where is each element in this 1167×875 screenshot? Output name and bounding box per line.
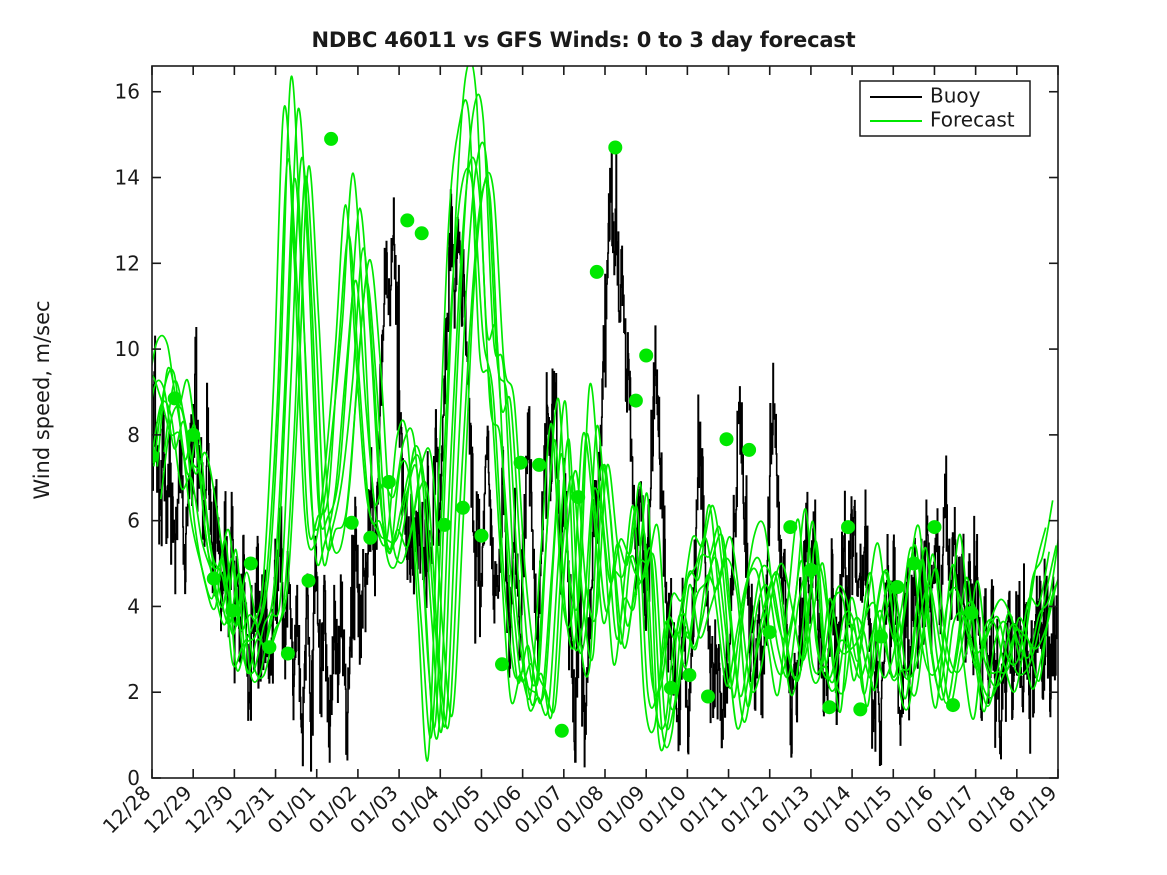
forecast-series	[140, 61, 1071, 761]
forecast-marker	[456, 501, 469, 514]
forecast-marker	[842, 521, 855, 534]
forecast-marker	[401, 214, 414, 227]
forecast-marker	[281, 647, 294, 660]
forecast-marker	[965, 606, 978, 619]
chart-legend: BuoyForecast	[860, 81, 1030, 136]
y-tick-label: 2	[127, 680, 140, 704]
forecast-marker	[514, 456, 527, 469]
forecast-marker	[302, 574, 315, 587]
forecast-marker	[702, 690, 715, 703]
y-tick-label: 8	[127, 423, 140, 447]
forecast-marker	[907, 557, 920, 570]
forecast-marker	[533, 458, 546, 471]
forecast-marker	[720, 433, 733, 446]
y-tick-label: 6	[127, 509, 140, 533]
y-tick-label: 4	[127, 594, 140, 618]
forecast-marker	[804, 564, 817, 577]
forecast-marker	[891, 581, 904, 594]
forecast-marker	[263, 641, 276, 654]
forecast-marker	[928, 521, 941, 534]
forecast-marker	[763, 626, 776, 639]
forecast-marker	[207, 572, 220, 585]
forecast-marker	[475, 529, 488, 542]
y-tick-label: 16	[115, 80, 140, 104]
forecast-marker	[629, 394, 642, 407]
forecast-marker	[640, 349, 653, 362]
forecast-marker	[854, 703, 867, 716]
forecast-marker	[244, 557, 257, 570]
chart-figure: NDBC 46011 vs GFS Winds: 0 to 3 day fore…	[0, 0, 1167, 875]
forecast-marker	[683, 669, 696, 682]
plot-canvas: 024681012141612/2812/2912/3012/3101/0101…	[0, 0, 1167, 875]
forecast-marker	[609, 141, 622, 154]
axes: 024681012141612/2812/2912/3012/3101/0101…	[98, 66, 1062, 838]
y-tick-label: 14	[115, 166, 140, 190]
legend-label-forecast: Forecast	[930, 108, 1015, 132]
forecast-marker	[823, 701, 836, 714]
forecast-marker	[325, 132, 338, 145]
forecast-marker	[874, 630, 887, 643]
y-tick-label: 12	[115, 251, 140, 275]
forecast-marker	[784, 521, 797, 534]
forecast-marker	[947, 699, 960, 712]
forecast-marker	[555, 724, 568, 737]
y-tick-label: 10	[115, 337, 140, 361]
forecast-marker	[226, 604, 239, 617]
x-tick-label: 01/19	[1004, 781, 1062, 839]
forecast-marker	[187, 428, 200, 441]
legend-label-buoy: Buoy	[930, 84, 981, 108]
forecast-marker	[345, 516, 358, 529]
forecast-marker	[496, 658, 509, 671]
forecast-marker	[364, 531, 377, 544]
forecast-marker	[382, 476, 395, 489]
forecast-marker	[743, 443, 756, 456]
forecast-marker	[438, 518, 451, 531]
forecast-marker	[572, 491, 585, 504]
forecast-marker	[415, 227, 428, 240]
forecast-marker	[168, 392, 181, 405]
forecast-marker	[664, 681, 677, 694]
forecast-marker	[590, 265, 603, 278]
